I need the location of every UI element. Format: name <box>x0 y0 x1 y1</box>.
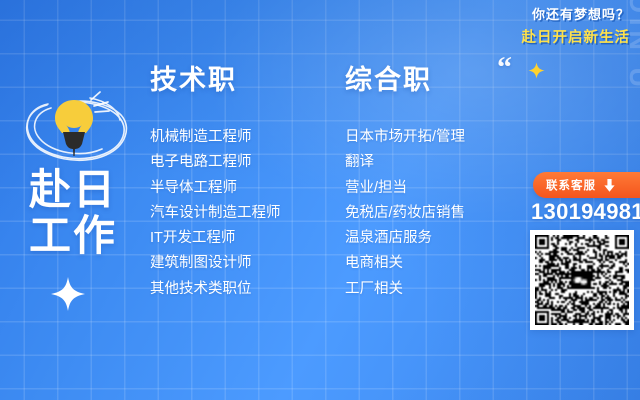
bulb-base <box>63 132 85 149</box>
job-list-item: 机械制造工程师 <box>150 125 281 150</box>
qr-code-canvas <box>535 235 629 325</box>
job-list-general: 日本市场开拓/管理 翻译 营业/担当 免税店/药妆店销售 温泉酒店服务 电商相关… <box>345 125 465 302</box>
job-list-item: 翻译 <box>345 150 465 175</box>
job-list-item: IT开发工程师 <box>150 226 281 251</box>
job-list-item: 半导体工程师 <box>150 176 281 201</box>
bulb-glass <box>55 100 93 133</box>
job-list-item: 建筑制图设计师 <box>150 251 281 276</box>
job-list-item: 日本市场开拓/管理 <box>345 125 465 150</box>
job-column-general: 综合职 日本市场开拓/管理 翻译 营业/担当 免税店/药妆店销售 温泉酒店服务 … <box>345 64 465 302</box>
slogan-line-2: 赴日开启新生活 <box>522 28 631 48</box>
poster-main-title: 赴日 工作 <box>29 167 117 259</box>
job-list-item: 电商相关 <box>345 251 465 276</box>
job-list-item: 免税店/药妆店销售 <box>345 201 465 226</box>
job-list-item: 营业/担当 <box>345 176 465 201</box>
job-list-item: 工厂相关 <box>345 277 465 302</box>
arrow-down-icon <box>604 179 615 192</box>
join-us-watermark: JOIN U <box>623 0 640 92</box>
sparkle-star-icon <box>528 62 545 79</box>
job-column-tech: 技术职 机械制造工程师 电子电路工程师 半导体工程师 汽车设计制造工程师 IT开… <box>150 64 281 302</box>
job-list-item: 电子电路工程师 <box>150 150 281 175</box>
contact-support-label: 联系客服 <box>546 177 596 193</box>
bulb-tip <box>73 148 75 156</box>
poster-main-title-line1: 赴日 <box>29 167 117 213</box>
sparkle-star-icon <box>50 276 86 312</box>
poster-main-title-line2: 工作 <box>29 213 117 259</box>
qr-code-icon[interactable] <box>530 230 634 330</box>
job-list-item: 温泉酒店服务 <box>345 226 465 251</box>
quote-mark-icon: “ <box>497 60 512 76</box>
contact-support-button[interactable]: 联系客服 <box>533 172 640 198</box>
job-column-general-heading: 综合职 <box>345 64 465 96</box>
job-list-item: 其他技术类职位 <box>150 277 281 302</box>
job-list-tech: 机械制造工程师 电子电路工程师 半导体工程师 汽车设计制造工程师 IT开发工程师… <box>150 125 281 302</box>
slogan-block: 你还有梦想吗？ 赴日开启新生活 <box>522 6 631 48</box>
poster-canvas: 赴日 工作 技术职 机械制造工程师 电子电路工程师 半导体工程师 汽车设计制造工… <box>0 0 640 400</box>
job-column-tech-heading: 技术职 <box>150 64 281 96</box>
job-list-item: 汽车设计制造工程师 <box>150 201 281 226</box>
slogan-line-1: 你还有梦想吗？ <box>522 6 631 24</box>
lightbulb-doodle-icon <box>18 78 140 178</box>
contact-phone-number: 13019498186 <box>531 199 640 225</box>
